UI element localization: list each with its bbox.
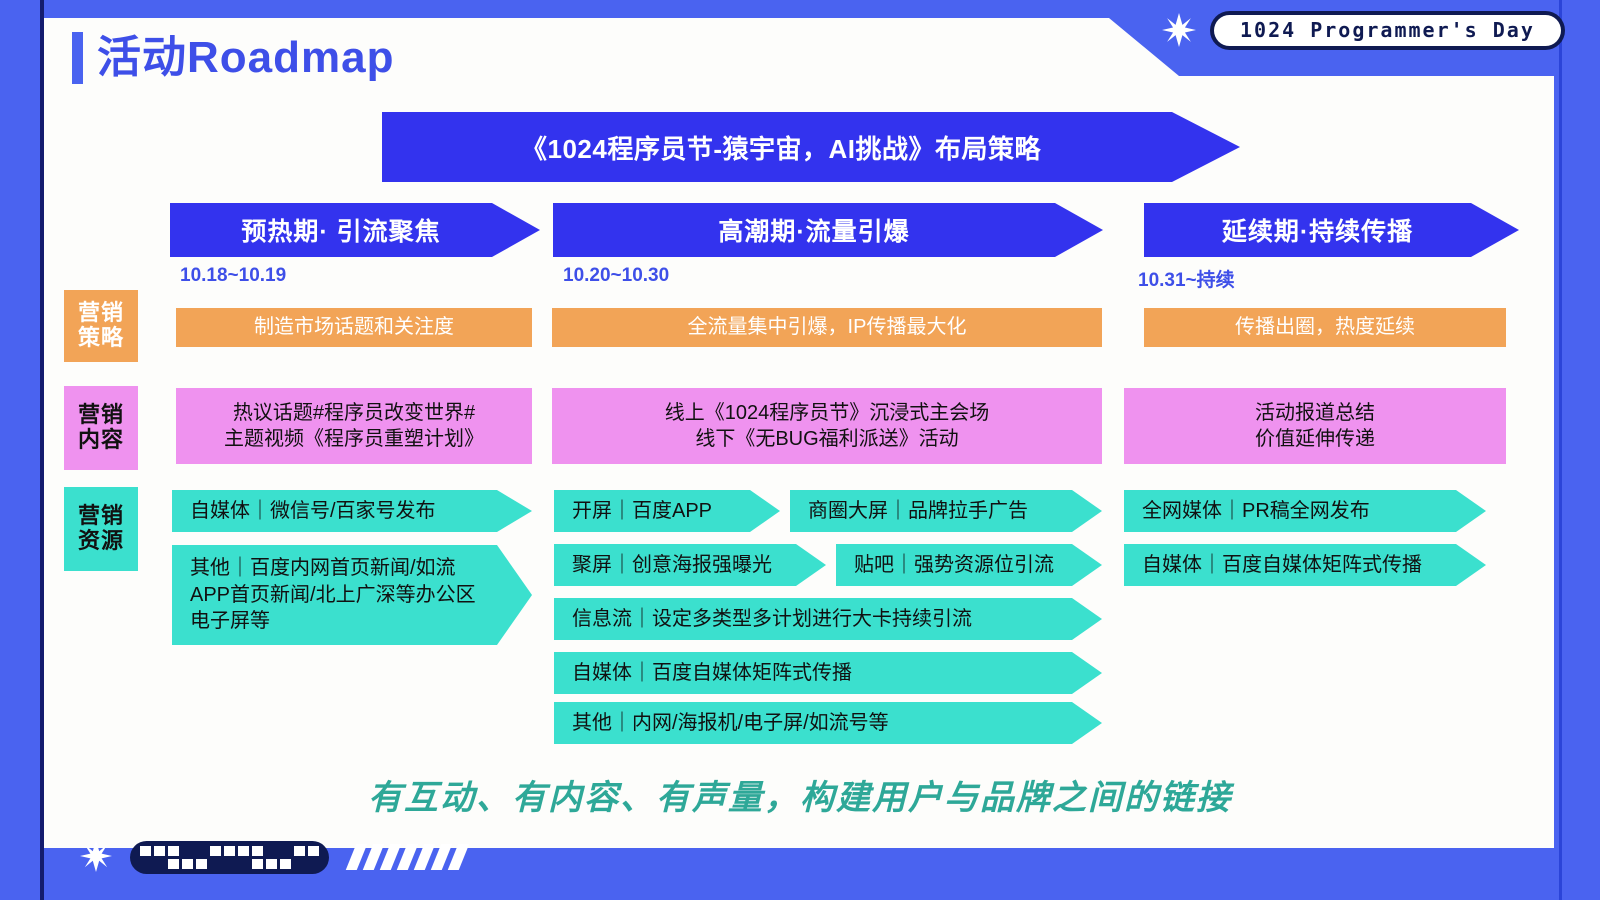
content-cell-line-2: 线下《无BUG福利派送》活动 [695,426,958,452]
content-cell-line-1: 线上《1024程序员节》沉浸式主会场 [665,400,990,426]
phase-header-2-label: 高潮期·流量引爆 [718,212,937,248]
sparkle-icon [80,840,114,874]
checker-cell [182,859,193,869]
resource-chip-text: 其他｜百度内网首页新闻/如流APP首页新闻/北上广深等办公区电子屏等 [190,555,486,634]
stripes-decoration [351,844,464,870]
content-cell-phase-3: 活动报道总结 价值延伸传递 [1124,388,1506,464]
phase-date-1: 10.18~10.19 [180,265,286,287]
content-cell-line-1: 热议话题#程序员改变世界# [233,400,475,426]
row-label-line-2: 内容 [78,428,124,453]
strategy-cell-text: 全流量集中引爆，IP传播最大化 [688,314,967,340]
checker-cell [196,846,207,856]
row-label-line-1: 营销 [78,301,124,326]
checker-cell [294,846,305,856]
title-accent-bar [72,32,83,84]
resource-chip-text: 聚屏｜创意海报强曝光 [572,552,772,578]
frame-right-rule [1559,0,1562,900]
checker-column [224,846,235,869]
programmers-day-badge: 1024 Programmer's Day [1210,11,1565,50]
checker-cell [238,846,249,856]
content-cell-phase-1: 热议话题#程序员改变世界# 主题视频《程序员重塑计划》 [176,388,532,464]
content-cell-phase-2: 线上《1024程序员节》沉浸式主会场 线下《无BUG福利派送》活动 [552,388,1102,464]
topbar: 1024 Programmer's Day [1100,0,1600,60]
page-title: 活动Roadmap [97,36,394,80]
resource-chip-text: 信息流｜设定多类型多计划进行大卡持续引流 [572,606,972,632]
checker-cell [294,859,305,869]
tagline: 有互动、有内容、有声量，构建用户与品牌之间的链接 [0,770,1600,819]
checker-cell [140,846,151,856]
master-strategy-arrow: 《1024程序员节-猿宇宙，AI挑战》布局策略 [382,112,1240,182]
row-label-line-2: 策略 [78,326,124,351]
checker-cell [182,846,193,856]
resource-chip-p2-3[interactable]: 聚屏｜创意海报强曝光 [554,544,826,586]
checker-cell [252,859,263,869]
phase-header-3[interactable]: 延续期·持续传播 [1144,203,1519,257]
checker-cell [154,846,165,856]
page-title-group: 活动Roadmap [72,32,394,84]
resource-chip-text: 自媒体｜百度自媒体矩阵式传播 [1142,552,1422,578]
row-label-line-1: 营销 [78,504,124,529]
checker-cell [308,846,319,856]
content-cell-line-2: 主题视频《程序员重塑计划》 [224,426,484,452]
resource-chip-p2-2[interactable]: 商圈大屏｜品牌拉手广告 [790,490,1102,532]
checker-cell [168,859,179,869]
resource-chip-text: 开屏｜百度APP [572,498,712,524]
strategy-cell-text: 制造市场话题和关注度 [254,314,454,340]
phase-header-1-label: 预热期· 引流聚焦 [241,212,468,248]
content-cell-line-2: 价值延伸传递 [1255,426,1375,452]
programmers-day-badge-label: 1024 Programmer's Day [1214,15,1561,46]
checker-cell [280,846,291,856]
checker-column [280,846,291,869]
checker-cell [252,846,263,856]
checker-cell [210,859,221,869]
checker-cell [266,859,277,869]
resource-chip-p3-1[interactable]: 全网媒体｜PR稿全网发布 [1124,490,1486,532]
checker-column [140,846,151,869]
resource-chip-p2-6[interactable]: 自媒体｜百度自媒体矩阵式传播 [554,652,1102,694]
checker-cell [308,859,319,869]
checker-column [294,846,305,869]
resource-chip-p2-7[interactable]: 其他｜内网/海报机/电子屏/如流号等 [554,702,1102,744]
resource-chip-text: 商圈大屏｜品牌拉手广告 [808,498,1028,524]
phase-date-3: 10.31~持续 [1138,265,1235,292]
content-cell-line-1: 活动报道总结 [1255,400,1375,426]
row-label-marketing-resource: 营销 资源 [64,487,138,571]
strategy-cell-phase-1: 制造市场话题和关注度 [176,308,532,347]
resource-chip-p2-4[interactable]: 贴吧｜强势资源位引流 [836,544,1102,586]
checker-cell [140,859,151,869]
resource-chip-p2-5[interactable]: 信息流｜设定多类型多计划进行大卡持续引流 [554,598,1102,640]
resource-chip-text: 贴吧｜强势资源位引流 [854,552,1054,578]
resource-chip-p1-1[interactable]: 自媒体｜微信号/百家号发布 [172,490,532,532]
resource-chip-text: 全网媒体｜PR稿全网发布 [1142,498,1370,524]
resource-chip-p2-1[interactable]: 开屏｜百度APP [554,490,780,532]
resource-chip-p3-2[interactable]: 自媒体｜百度自媒体矩阵式传播 [1124,544,1486,586]
checker-cell [224,846,235,856]
phase-header-2[interactable]: 高潮期·流量引爆 [553,203,1103,257]
checker-column [168,846,179,869]
checker-cell [238,859,249,869]
row-label-marketing-strategy: 营销 策略 [64,290,138,362]
checker-cell [168,846,179,856]
checker-cell [154,859,165,869]
checker-cell [210,846,221,856]
resource-chip-text: 自媒体｜微信号/百家号发布 [190,498,436,524]
checker-cell [280,859,291,869]
checker-pill-decoration [130,841,329,874]
resource-chip-text: 其他｜内网/海报机/电子屏/如流号等 [572,710,889,736]
resource-chip-p1-2[interactable]: 其他｜百度内网首页新闻/如流APP首页新闻/北上广深等办公区电子屏等 [172,545,532,645]
row-label-line-1: 营销 [78,403,124,428]
checker-column [308,846,319,869]
phase-header-3-label: 延续期·持续传播 [1222,212,1441,248]
checker-column [154,846,165,869]
phase-header-1[interactable]: 预热期· 引流聚焦 [170,203,540,257]
strategy-cell-phase-3: 传播出圈，热度延续 [1144,308,1506,347]
checker-column [252,846,263,869]
bottom-decoration [80,840,464,874]
checker-cell [266,846,277,856]
frame-left-rule [40,0,44,900]
checker-column [182,846,193,869]
checker-column [266,846,277,869]
checker-cell [196,859,207,869]
checker-column [238,846,249,869]
checker-column [196,846,207,869]
strategy-cell-text: 传播出圈，热度延续 [1235,314,1415,340]
row-label-marketing-content: 营销 内容 [64,386,138,470]
sparkle-icon [1162,13,1196,47]
resource-chip-text: 自媒体｜百度自媒体矩阵式传播 [572,660,852,686]
strategy-cell-phase-2: 全流量集中引爆，IP传播最大化 [552,308,1102,347]
checker-column [210,846,221,869]
phase-date-2: 10.20~10.30 [563,265,669,287]
master-strategy-label: 《1024程序员节-猿宇宙，AI挑战》布局策略 [521,129,1041,166]
checker-cell [224,859,235,869]
row-label-line-2: 资源 [78,529,124,554]
